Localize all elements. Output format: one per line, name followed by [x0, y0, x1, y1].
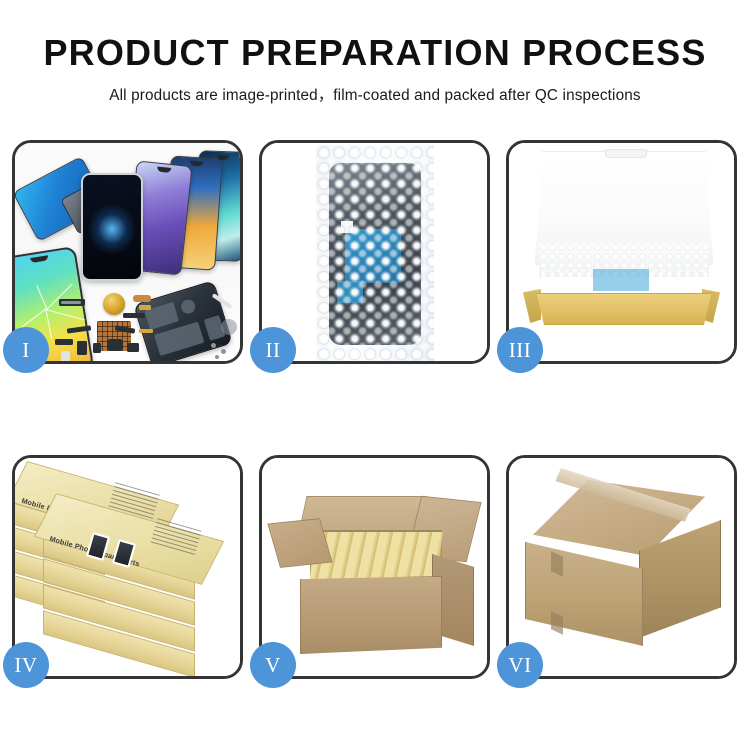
step-badge-6: VI: [497, 642, 543, 688]
gold-coil-part: [103, 293, 125, 315]
phone-screens-and-spare-parts-scene: [15, 143, 240, 361]
step-badge-4: IV: [3, 642, 49, 688]
spare-part: [139, 329, 153, 333]
stacked-retail-boxes-scene: Mobile Phone Spare Parts Mobile Phone Sp…: [15, 458, 240, 676]
process-step-3: III: [506, 140, 737, 364]
crack-line: [36, 285, 47, 309]
open-mailer-box-scene: [509, 143, 734, 361]
step-2-image: [262, 143, 487, 361]
housing-camera: [179, 298, 196, 315]
page-subtitle: All products are image-printed，film-coat…: [0, 83, 750, 105]
step-6-image: [509, 458, 734, 676]
spare-part: [61, 351, 70, 361]
screw: [215, 355, 219, 359]
process-step-grid: I II: [12, 140, 738, 679]
step-badge-5: V: [250, 642, 296, 688]
step-badge-1: I: [3, 327, 49, 373]
open-carton-scene: [262, 458, 487, 676]
screw: [221, 349, 226, 354]
spare-part: [77, 341, 87, 355]
sealed-carton-scene: [509, 458, 734, 676]
blue-label-inside-box: [593, 269, 649, 291]
step-badge-2: II: [250, 327, 296, 373]
crack-line: [46, 309, 85, 321]
spare-part: [127, 343, 139, 352]
spare-part: [139, 305, 151, 310]
process-step-2: II: [259, 140, 490, 364]
carton-front-panel: [525, 542, 643, 646]
process-step-1: I: [12, 140, 243, 364]
screw: [211, 343, 216, 348]
step-3-image: [509, 143, 734, 361]
step-badge-3: III: [497, 327, 543, 373]
page-title: PRODUCT PREPARATION PROCESS: [0, 34, 750, 72]
product-preparation-infographic: PRODUCT PREPARATION PROCESS All products…: [0, 0, 750, 750]
step-4-image: Mobile Phone Spare Parts Mobile Phone Sp…: [15, 458, 240, 676]
spare-part: [107, 339, 123, 351]
spare-part: [123, 313, 145, 318]
carton-front-panel: [300, 576, 442, 654]
phone-back-housing: [133, 280, 233, 361]
bubble-texture-offset: [316, 145, 434, 361]
spare-part: [55, 339, 73, 345]
housing-battery: [154, 322, 204, 356]
spare-part: [133, 295, 151, 302]
process-step-6: VI: [506, 455, 737, 679]
process-step-5: V: [259, 455, 490, 679]
box-front-panel: [531, 293, 717, 325]
crack-line: [20, 308, 46, 328]
step-1-image: [15, 143, 240, 361]
black-front-glass-phone: [81, 173, 143, 281]
crack-line: [45, 309, 52, 339]
box-lid-tab: [605, 149, 647, 158]
process-step-4: Mobile Phone Spare Parts Mobile Phone Sp…: [12, 455, 243, 679]
bubble-wrapped-screen-scene: [262, 143, 487, 361]
step-5-image: [262, 458, 487, 676]
tool-tip: [221, 319, 237, 335]
header: PRODUCT PREPARATION PROCESS All products…: [0, 0, 750, 105]
spare-part: [61, 301, 81, 304]
crack-line: [46, 284, 72, 310]
spare-part: [93, 343, 101, 353]
